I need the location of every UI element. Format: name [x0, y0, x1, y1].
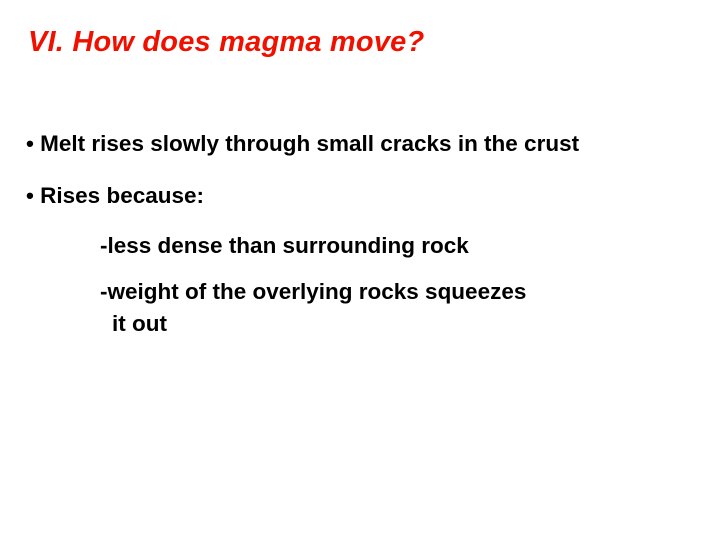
sub-point-2-text: -weight of the overlying rocks squeezes — [100, 279, 526, 304]
bullet-item-1: • Melt rises slowly through small cracks… — [26, 128, 666, 160]
bullet-glyph-icon: • — [26, 131, 34, 156]
slide-body: • Melt rises slowly through small cracks… — [26, 128, 686, 354]
bullet-item-2-text: Rises because: — [40, 183, 204, 208]
slide-canvas: VI. How does magma move? • Melt rises sl… — [0, 0, 720, 540]
sub-point-2: -weight of the overlying rocks squeezes … — [26, 276, 686, 340]
bullet-item-2: • Rises because: — [26, 180, 686, 212]
sub-point-1-text: -less dense than surrounding rock — [100, 233, 469, 258]
sub-point-1: -less dense than surrounding rock — [26, 230, 686, 262]
sub-point-2-continuation: it out — [100, 308, 686, 340]
slide-title: VI. How does magma move? — [28, 26, 424, 59]
bullet-glyph-icon: • — [26, 183, 34, 208]
bullet-item-1-text: Melt rises slowly through small cracks i… — [40, 131, 579, 156]
